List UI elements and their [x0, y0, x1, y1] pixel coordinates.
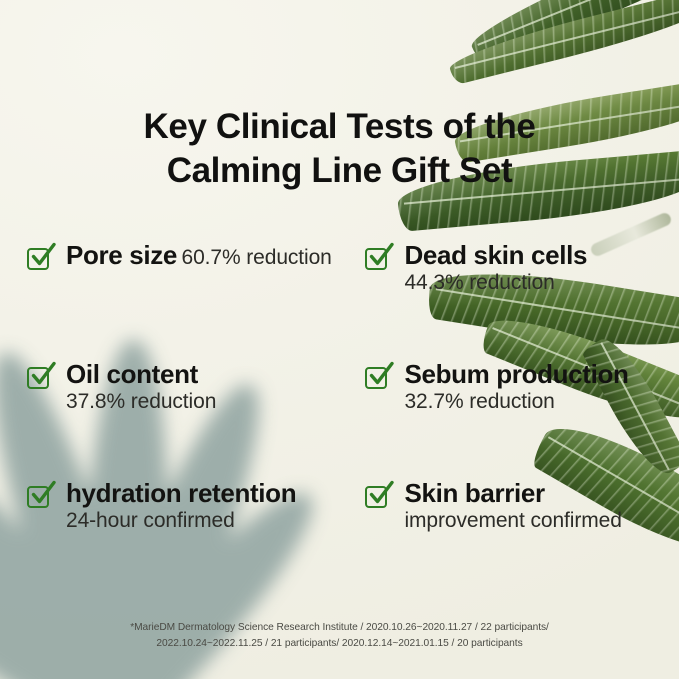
promo-graphic: Key Clinical Tests of the Calming Line G… — [0, 0, 679, 679]
checkbox-checked-icon — [365, 246, 391, 272]
claim-subtitle: 37.8% reduction — [66, 390, 216, 413]
claim-subtitle: 32.7% reduction — [404, 390, 554, 413]
claim-item-sebum-production: Sebum production 32.7% reduction — [341, 359, 679, 478]
checkbox-checked-icon — [365, 484, 391, 510]
claim-subtitle: 44.3% reduction — [404, 271, 554, 294]
checkbox-checked-icon — [27, 365, 53, 391]
claim-subtitle: improvement confirmed — [404, 509, 621, 532]
claim-title: Pore size — [66, 240, 177, 270]
claim-text: Skin barrier improvement confirmed — [404, 478, 679, 534]
claims-row: hydration retention 24-hour confirmed Sk… — [0, 478, 679, 597]
claim-item-dead-skin-cells: Dead skin cells 44.3% reduction — [341, 240, 679, 359]
claim-item-pore-size: Pore size 60.7% reduction — [0, 240, 341, 359]
checkbox-checked-icon — [365, 365, 391, 391]
claim-text: Sebum production 32.7% reduction — [404, 359, 679, 415]
page-title-line-2: Calming Line Gift Set — [0, 149, 679, 193]
page-title: Key Clinical Tests of the Calming Line G… — [0, 105, 679, 193]
claims-grid: Pore size 60.7% reduction Dead skin cell… — [0, 240, 679, 597]
claim-title: Skin barrier — [404, 478, 544, 508]
claim-item-oil-content: Oil content 37.8% reduction — [0, 359, 341, 478]
claim-title: hydration retention — [66, 478, 296, 508]
content-layer: Key Clinical Tests of the Calming Line G… — [0, 0, 679, 679]
claims-row: Oil content 37.8% reduction Sebum produc… — [0, 359, 679, 478]
page-title-line-1: Key Clinical Tests of the — [0, 105, 679, 149]
claim-text: Pore size 60.7% reduction — [66, 240, 332, 271]
claim-text: hydration retention 24-hour confirmed — [66, 478, 341, 534]
footnote-line-1: *MarieDM Dermatology Science Research In… — [0, 620, 679, 636]
claim-text: Oil content 37.8% reduction — [66, 359, 341, 415]
claim-item-hydration-retention: hydration retention 24-hour confirmed — [0, 478, 341, 597]
claim-text: Dead skin cells 44.3% reduction — [404, 240, 679, 296]
claim-title: Dead skin cells — [404, 240, 587, 270]
footnote-line-2: 2022.10.24~2022.11.25 / 21 participants/… — [0, 636, 679, 652]
claim-title: Sebum production — [404, 359, 628, 389]
claim-subtitle: 24-hour confirmed — [66, 509, 235, 532]
claims-row: Pore size 60.7% reduction Dead skin cell… — [0, 240, 679, 359]
footnote: *MarieDM Dermatology Science Research In… — [0, 620, 679, 652]
claim-subtitle: 60.7% reduction — [181, 246, 331, 269]
claim-title: Oil content — [66, 359, 198, 389]
claim-item-skin-barrier: Skin barrier improvement confirmed — [341, 478, 679, 597]
checkbox-checked-icon — [27, 246, 53, 272]
checkbox-checked-icon — [27, 484, 53, 510]
